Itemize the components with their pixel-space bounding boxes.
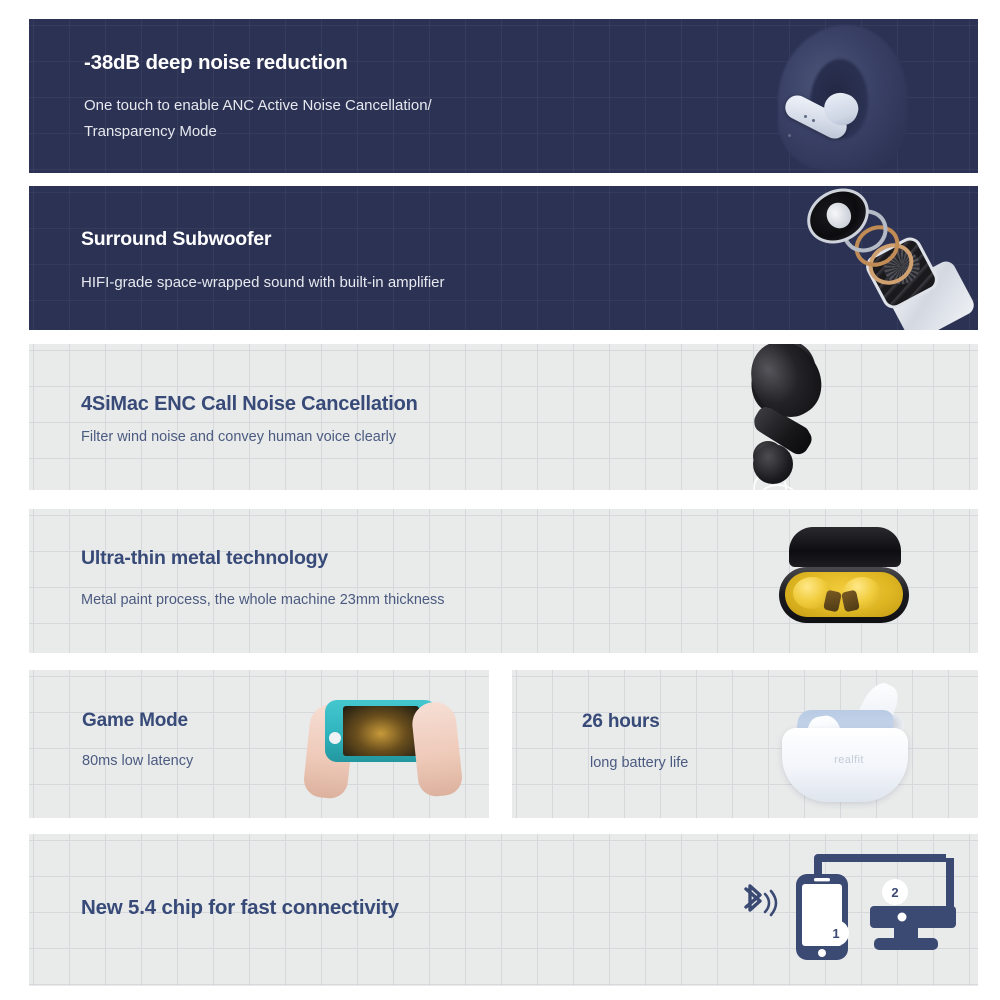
white-charging-case-image: realfit: [774, 674, 954, 816]
panel-title-ultrathin: Ultra-thin metal technology: [81, 547, 444, 570]
feature-panel-game-mode: Game Mode 80ms low latency: [29, 670, 489, 818]
feature-text-battery: 26 hours long battery life: [582, 711, 688, 771]
panel-subtitle-game-mode: 80ms low latency: [82, 753, 193, 769]
feature-panel-ultrathin: Ultra-thin metal technology Metal paint …: [29, 509, 978, 653]
subtitle-line: long battery life: [590, 755, 688, 771]
panel-subtitle-ultrathin: Metal paint process, the whole machine 2…: [81, 592, 444, 608]
device-badge-1: 1: [823, 920, 849, 946]
subtitle-line: One touch to enable ANC Active Noise Can…: [84, 93, 432, 119]
subtitle-line: Metal paint process, the whole machine 2…: [81, 592, 444, 608]
panel-title-battery: 26 hours: [582, 711, 688, 733]
feature-panel-subwoofer: Surround Subwoofer HIFI-grade space-wrap…: [29, 186, 978, 330]
panel-subtitle-battery: long battery life: [590, 755, 688, 771]
panel-title-subwoofer: Surround Subwoofer: [81, 228, 445, 251]
panel-subtitle-anc: One touch to enable ANC Active Noise Can…: [84, 93, 432, 145]
subtitle-line: 80ms low latency: [82, 753, 193, 769]
bluetooth-icon: [732, 880, 778, 931]
device-badge-2: 2: [882, 879, 908, 905]
handheld-game-console-image: [283, 674, 483, 818]
exploded-speaker-driver-image: [798, 186, 978, 330]
desktop-monitor-icon: [870, 858, 956, 950]
panel-title-game-mode: Game Mode: [82, 710, 193, 732]
feature-text-game-mode: Game Mode 80ms low latency: [82, 710, 193, 769]
open-charging-case-yellow-earbuds-image: [769, 527, 919, 637]
product-feature-infographic: -38dB deep noise reduction One touch to …: [0, 0, 1000, 1000]
ear-with-white-earbud-image: [738, 19, 958, 173]
panel-title-enc: 4SiMac ENC Call Noise Cancellation: [81, 393, 418, 416]
panel-title-anc: -38dB deep noise reduction: [84, 51, 432, 75]
feature-panel-battery: realfit 26 hours long battery life: [512, 670, 978, 818]
smartphone-icon: [796, 874, 848, 960]
feature-text-subwoofer: Surround Subwoofer HIFI-grade space-wrap…: [81, 228, 445, 291]
feature-text-chip: New 5.4 chip for fast connectivity: [81, 896, 399, 920]
subtitle-line: Filter wind noise and convey human voice…: [81, 429, 418, 445]
case-brand-label: realfit: [814, 754, 884, 766]
subtitle-line: Transparency Mode: [84, 119, 432, 145]
subtitle-line: HIFI-grade space-wrapped sound with buil…: [81, 274, 445, 291]
feature-text-enc: 4SiMac ENC Call Noise Cancellation Filte…: [81, 393, 418, 445]
feature-text-ultrathin: Ultra-thin metal technology Metal paint …: [81, 547, 444, 608]
two-black-earbuds-image: [753, 344, 968, 490]
feature-panel-enc: 4SiMac ENC Call Noise Cancellation Filte…: [29, 344, 978, 490]
bluetooth-multipoint-devices-image: 1 2: [724, 842, 964, 986]
connected-devices-illustration: [796, 848, 966, 981]
feature-text-anc: -38dB deep noise reduction One touch to …: [84, 51, 432, 145]
panel-title-chip: New 5.4 chip for fast connectivity: [81, 896, 399, 920]
feature-panel-anc: -38dB deep noise reduction One touch to …: [29, 19, 978, 173]
feature-panel-chip: 1 2 New 5.4 chip for fast connectivity: [29, 834, 978, 986]
panel-subtitle-subwoofer: HIFI-grade space-wrapped sound with buil…: [81, 274, 445, 291]
panel-subtitle-enc: Filter wind noise and convey human voice…: [81, 429, 418, 445]
